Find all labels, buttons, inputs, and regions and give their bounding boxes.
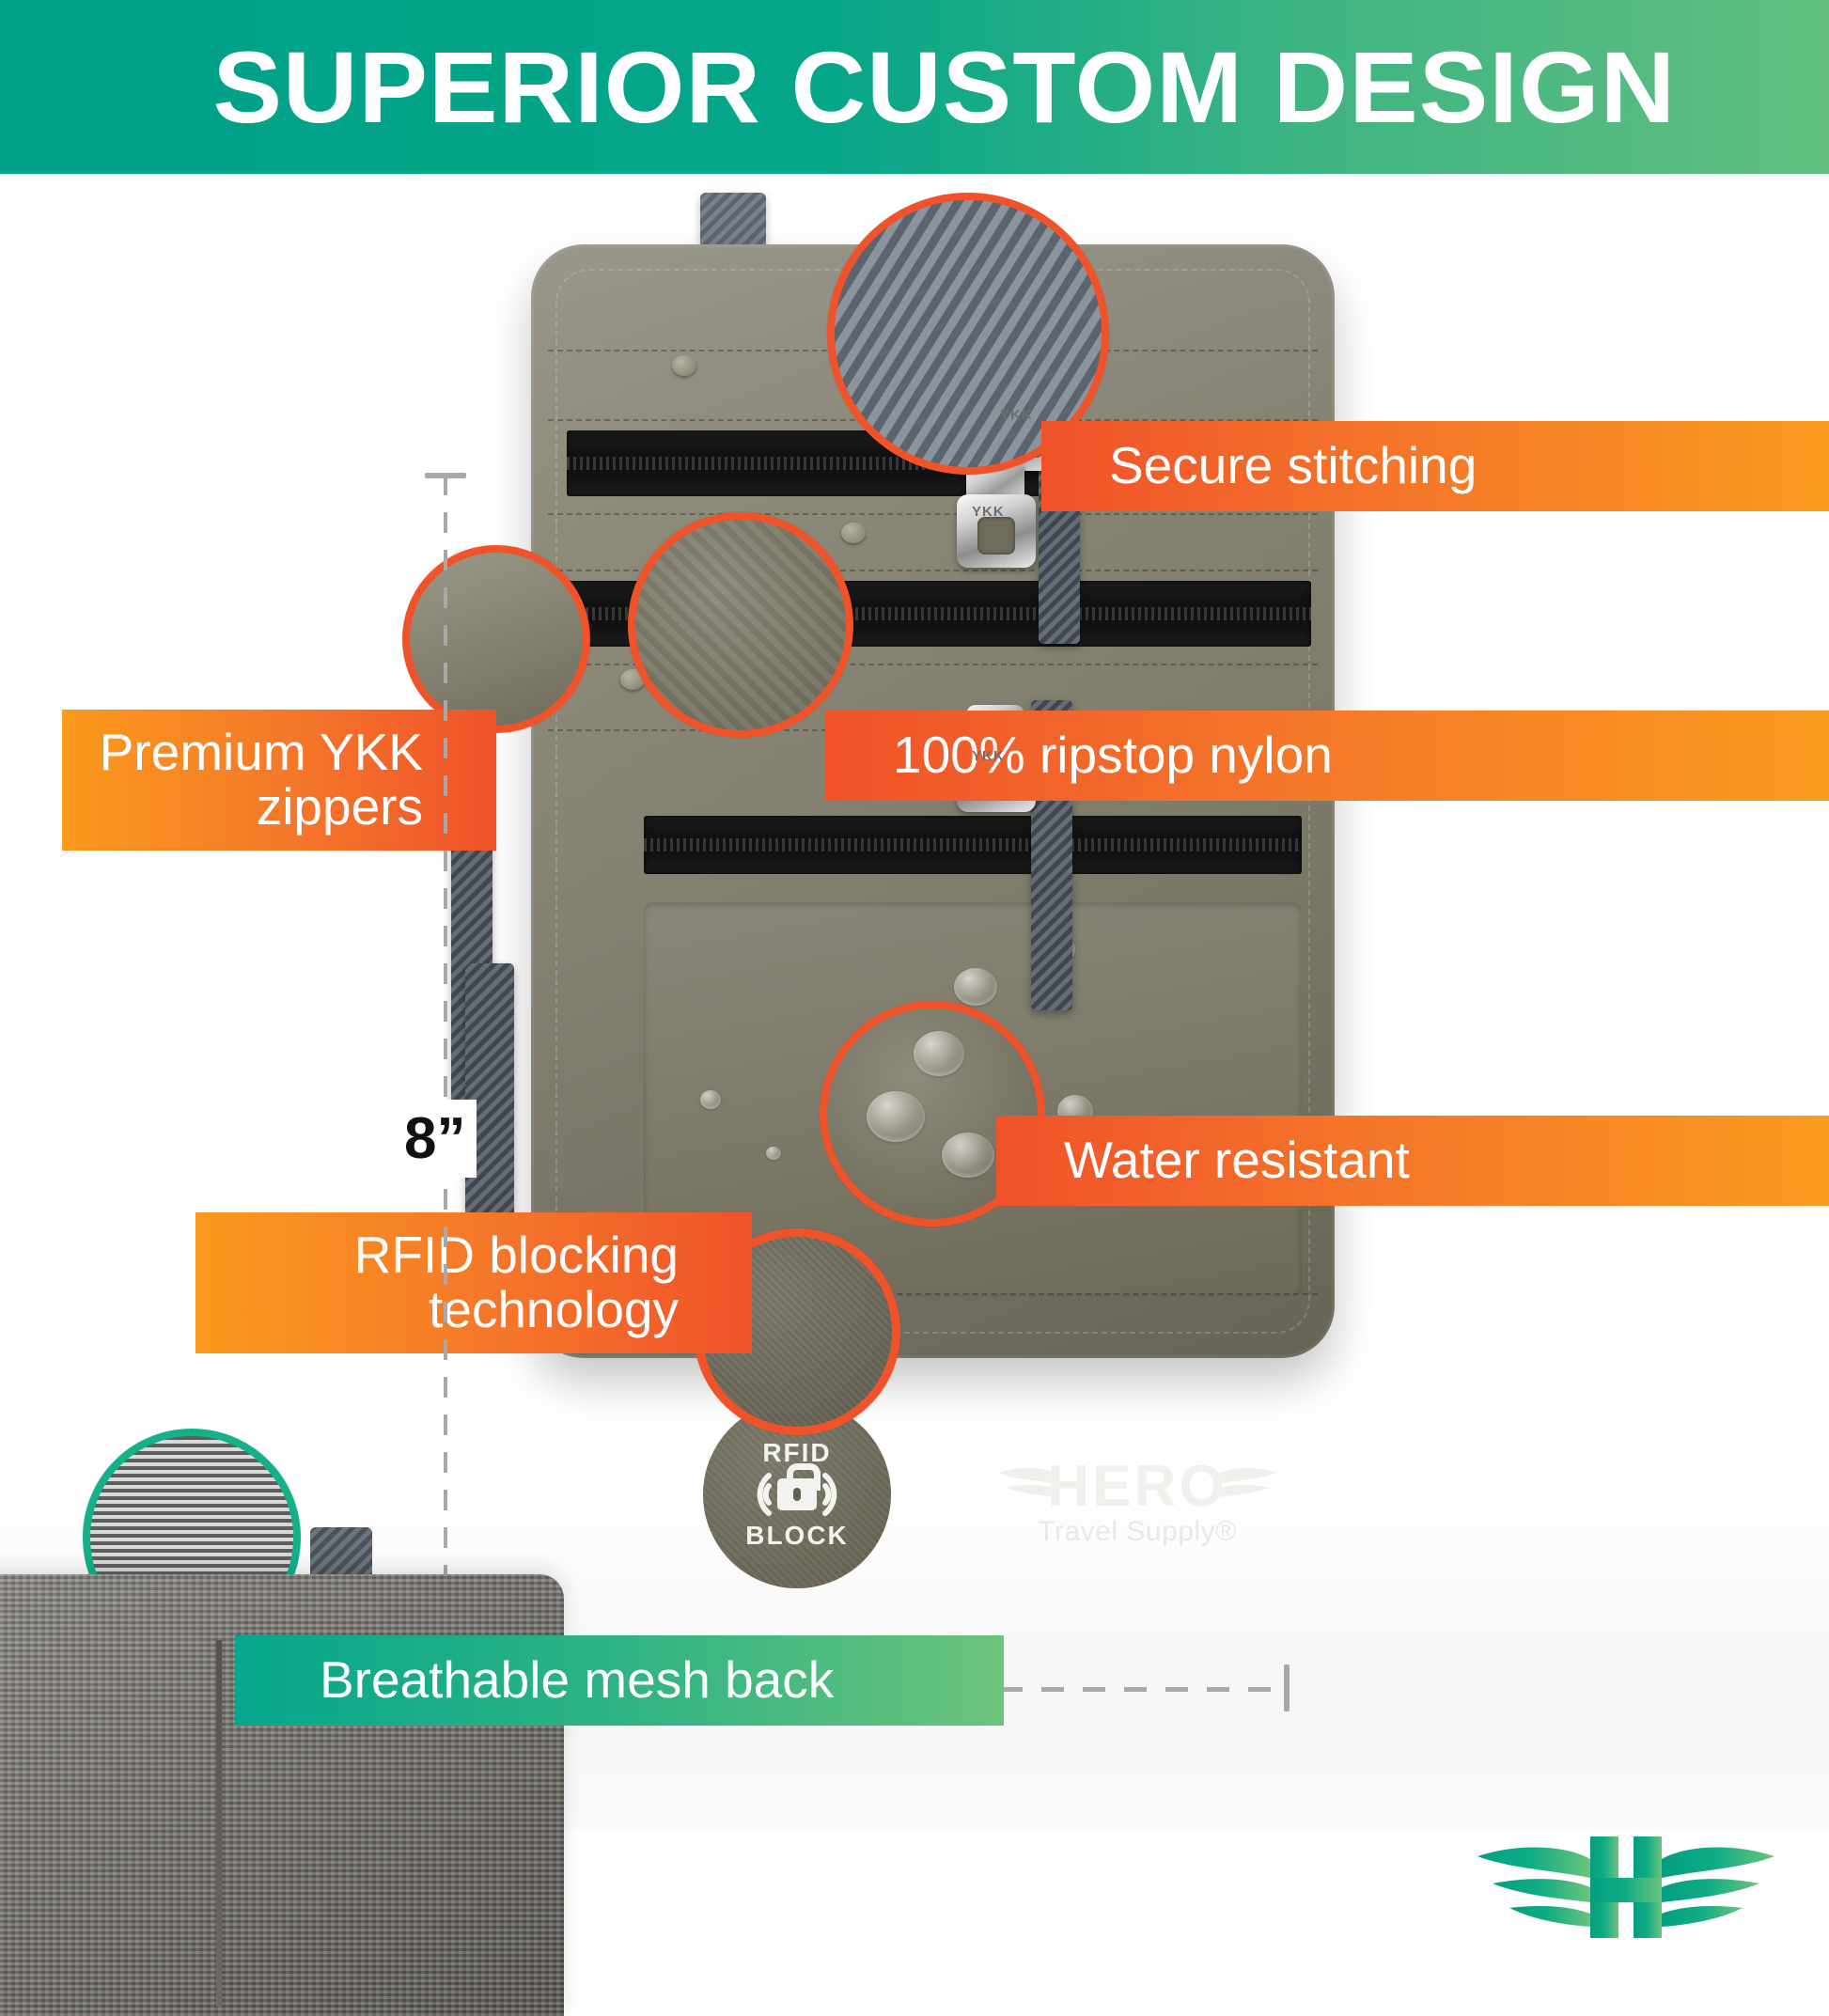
callout-label-text-line2: technology xyxy=(429,1283,679,1337)
callout-label-text-line1: Premium YKK xyxy=(100,726,423,780)
callout-circle-ykk-zippers xyxy=(402,545,590,733)
height-dimension-label: 8” xyxy=(393,1100,477,1178)
callout-label-rfid-blocking: RFID blocking technology xyxy=(195,1212,752,1353)
winged-h-icon xyxy=(1466,1805,1786,1969)
water-droplet xyxy=(954,968,997,1006)
hero-brand-logo: HERO Travel Supply® xyxy=(996,1452,1278,1565)
ykk-brand-mark: YKK xyxy=(972,748,1005,764)
zipper-strip xyxy=(644,816,1302,874)
water-droplet xyxy=(867,1091,925,1142)
callout-circle-ripstop-nylon xyxy=(628,512,853,738)
callout-label-text-line1: RFID blocking xyxy=(354,1228,679,1283)
callout-label-text: Water resistant xyxy=(1064,1133,1410,1188)
callout-label-water-resistant: Water resistant xyxy=(996,1116,1829,1206)
panel-seam xyxy=(548,513,1318,515)
rfid-wave-left-icon xyxy=(741,1470,773,1519)
callout-label-breathable-mesh: Breathable mesh back xyxy=(235,1635,1004,1726)
dimension-dashed-line xyxy=(444,475,447,1602)
product-stage: YKK YKK YKK YKK YKK RFID xyxy=(0,174,1829,1829)
rfid-wave-right-icon xyxy=(821,1470,853,1519)
callout-label-secure-stitching: Secure stitching xyxy=(1041,421,1829,511)
rfid-badge-icon-row xyxy=(741,1470,853,1519)
callout-label-text: Breathable mesh back xyxy=(320,1653,834,1708)
callout-label-text-line2: zippers xyxy=(257,780,423,835)
ykk-brand-mark: YKK xyxy=(972,504,1005,520)
snap-button xyxy=(841,523,866,543)
callout-label-text: Secure stitching xyxy=(1109,439,1477,493)
snap-button xyxy=(672,355,696,376)
callout-label-text: 100% ripstop nylon xyxy=(893,728,1333,783)
padlock-icon xyxy=(777,1478,817,1510)
water-droplet xyxy=(766,1147,781,1160)
footer-winged-h-logo xyxy=(1466,1805,1786,1969)
water-droplet xyxy=(914,1031,964,1076)
hero-tagline: Travel Supply® xyxy=(996,1516,1278,1548)
zipper-pull: YKK xyxy=(957,461,1036,573)
header-banner: SUPERIOR CUSTOM DESIGN xyxy=(0,0,1829,174)
water-droplet xyxy=(942,1133,994,1178)
mesh-product-seam xyxy=(216,1640,222,2007)
height-dimension-line xyxy=(442,456,449,1621)
callout-label-ykk-zippers: Premium YKK zippers xyxy=(62,710,496,851)
page-title: SUPERIOR CUSTOM DESIGN xyxy=(0,37,1676,138)
dimension-cap-right xyxy=(1284,1664,1290,1711)
water-droplet xyxy=(700,1090,721,1109)
rfid-badge-bottom-text: BLOCK xyxy=(745,1521,849,1551)
hero-wordmark: HERO xyxy=(996,1458,1278,1516)
ykk-brand-mark: YKK xyxy=(1000,407,1033,423)
